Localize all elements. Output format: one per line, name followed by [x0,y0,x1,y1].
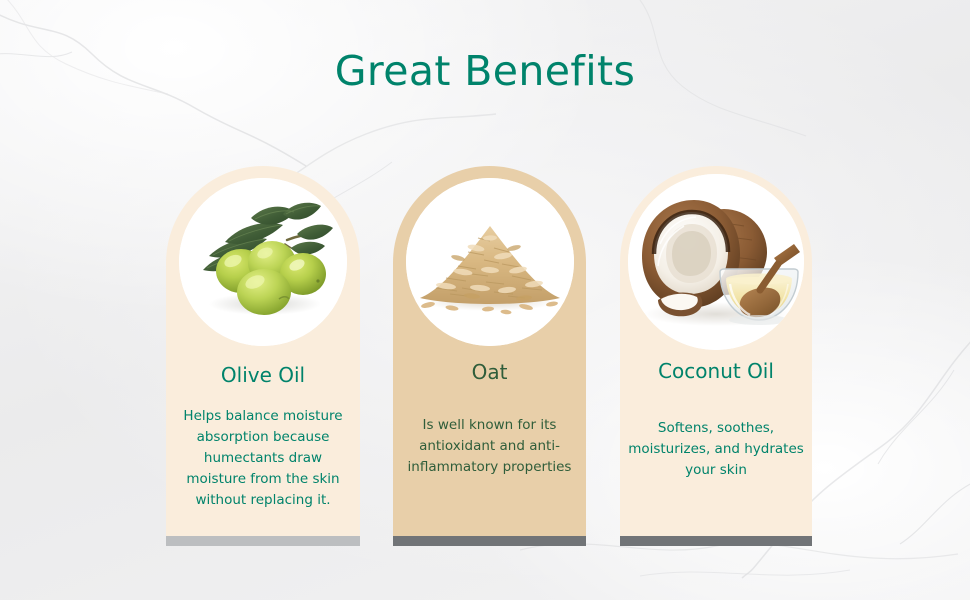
card-title-olive: Olive Oil [166,363,360,387]
oat-flakes-pile-image [406,178,574,346]
benefit-card-oat[interactable]: Oat Is well known for its antioxidant an… [393,166,586,546]
card-body-olive: Olive Oil Helps balance moisture absorpt… [166,166,360,536]
benefit-card-olive[interactable]: Olive Oil Helps balance moisture absorpt… [166,166,360,546]
card-description-oat: Is well known for its antioxidant and an… [393,415,586,478]
card-foot-bar-oat [393,536,586,546]
card-title-oat: Oat [393,360,586,384]
card-body-coconut: Coconut Oil Softens, soothes, moisturize… [620,166,812,536]
page-title: Great Benefits [0,47,970,95]
card-description-olive: Helps balance moisture absorption becaus… [166,406,360,511]
benefit-cards-row: Olive Oil Helps balance moisture absorpt… [0,166,970,548]
olives-with-leaves-image [179,178,347,346]
coconut-halves-with-oil-bowl-image [628,174,804,350]
card-title-coconut: Coconut Oil [620,359,812,383]
card-body-oat: Oat Is well known for its antioxidant an… [393,166,586,536]
card-foot-bar-coconut [620,536,812,546]
card-description-coconut: Softens, soothes, moisturizes, and hydra… [620,418,812,481]
marble-background-stage: Great Benefits [0,0,970,600]
card-foot-bar-olive [166,536,360,546]
benefit-card-coconut[interactable]: Coconut Oil Softens, soothes, moisturize… [620,166,812,546]
